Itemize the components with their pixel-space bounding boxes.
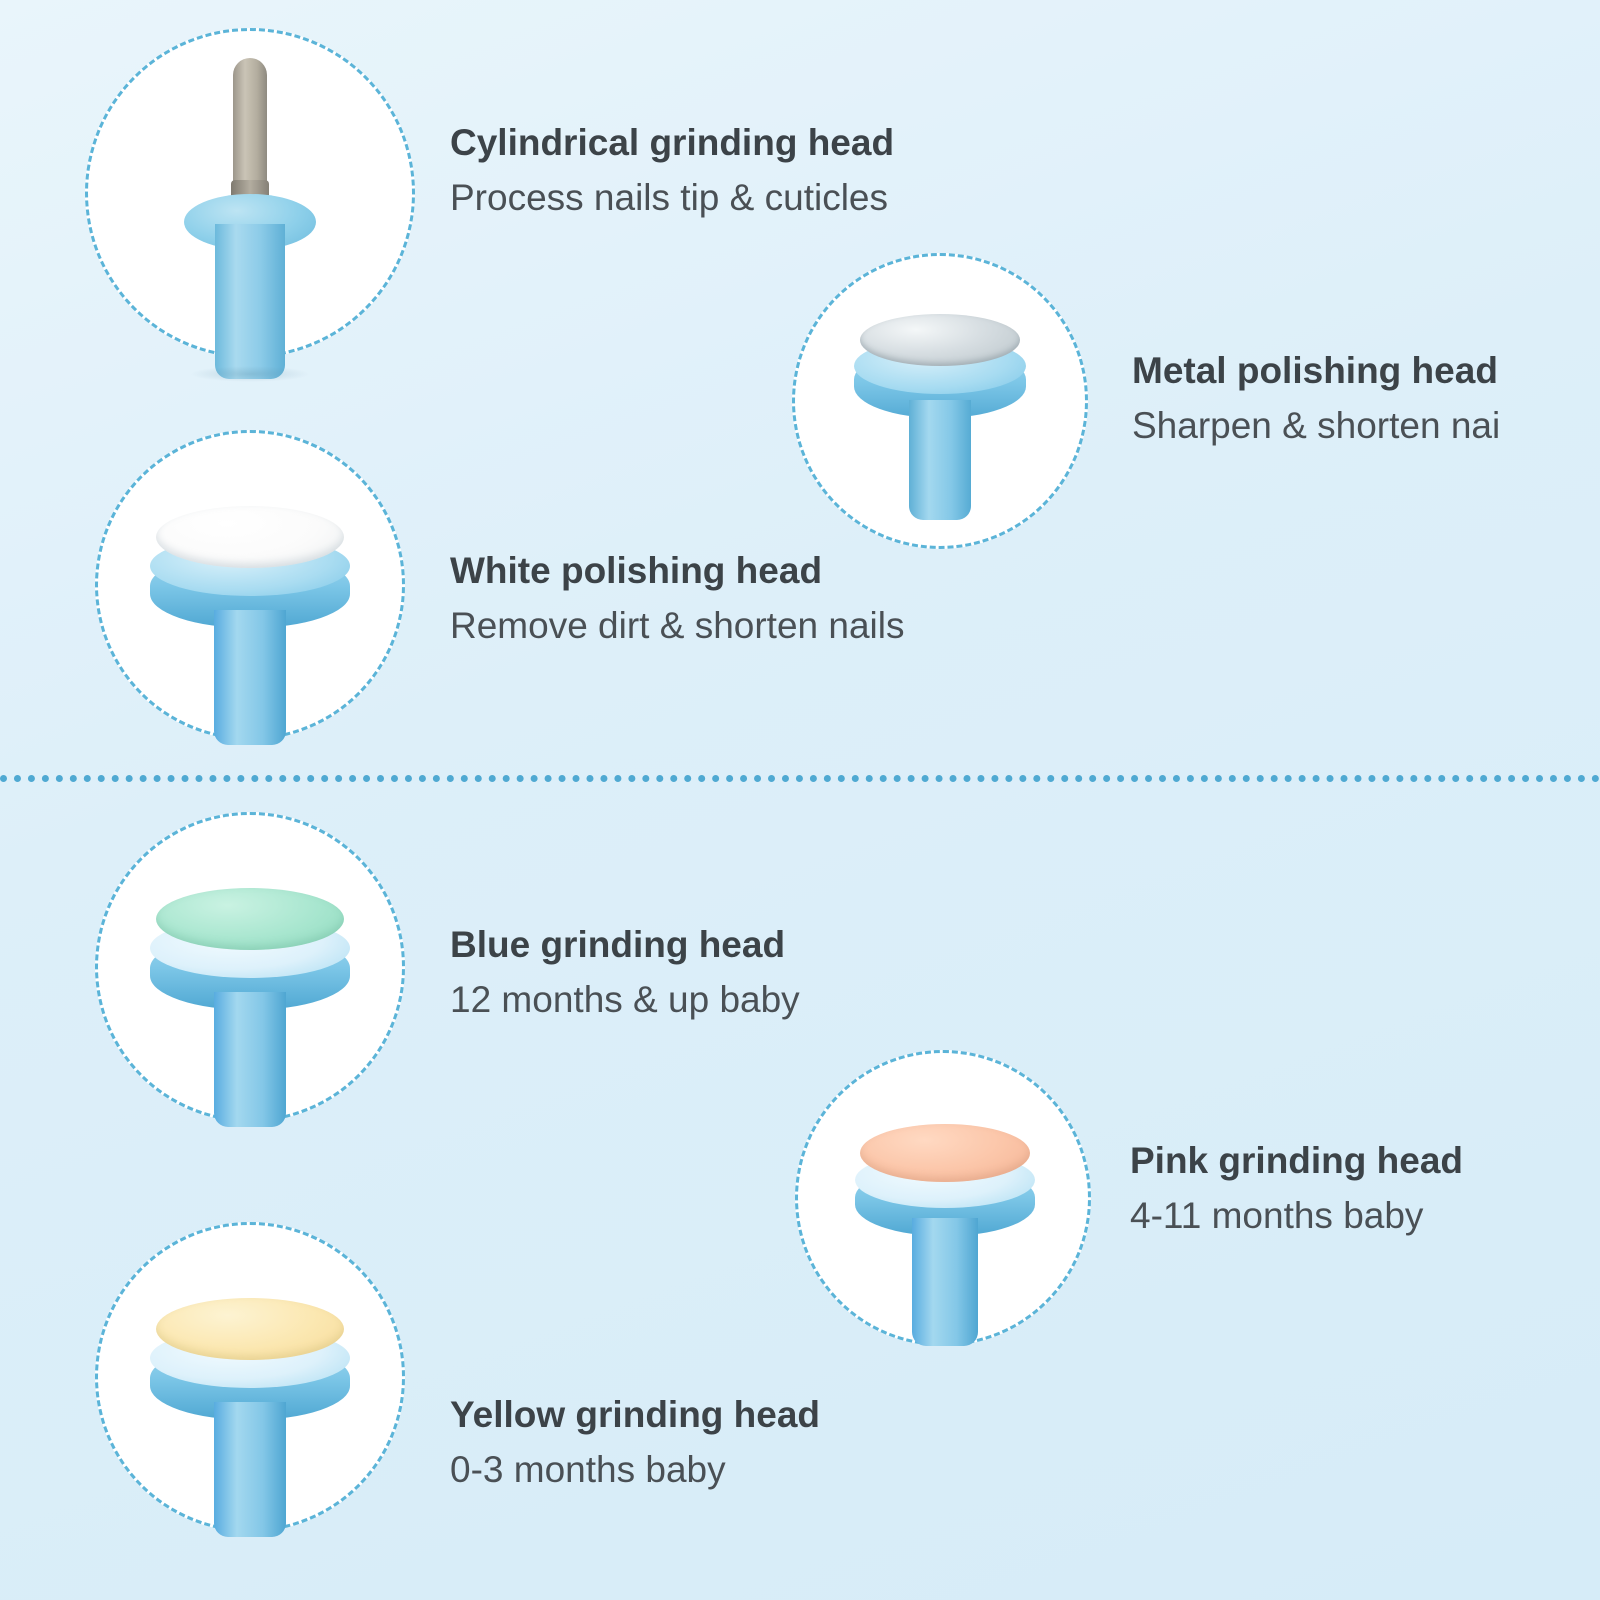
item-subtitle: 0-3 months baby [450, 1446, 820, 1494]
text-yellow-grinding-head: Yellow grinding head 0-3 months baby [450, 1392, 820, 1494]
item-subtitle: 4-11 months baby [1130, 1192, 1463, 1240]
text-blue-grinding-head: Blue grinding head 12 months & up baby [450, 922, 800, 1024]
white-pad [156, 506, 344, 568]
white-polishing-head-icon [150, 480, 350, 710]
yellow-grinding-head-icon [150, 1272, 350, 1502]
text-cylindrical-grinding-head: Cylindrical grinding head Process nails … [450, 120, 894, 222]
blue-pad [156, 888, 344, 950]
text-metal-polishing-head: Metal polishing head Sharpen & shorten n… [1132, 348, 1500, 450]
cylindrical-grinding-head-icon [180, 48, 320, 348]
item-title: Blue grinding head [450, 922, 800, 968]
metal-polishing-head-icon [855, 300, 1025, 515]
item-subtitle: Remove dirt & shorten nails [450, 602, 904, 650]
item-title: Yellow grinding head [450, 1392, 820, 1438]
item-title: White polishing head [450, 548, 904, 594]
pink-pad [860, 1124, 1030, 1182]
item-subtitle: Process nails tip & cuticles [450, 174, 894, 222]
infographic-stage: Cylindrical grinding head Process nails … [0, 0, 1600, 1600]
yellow-pad [156, 1298, 344, 1360]
item-title: Cylindrical grinding head [450, 120, 894, 166]
section-divider [0, 775, 1600, 782]
text-pink-grinding-head: Pink grinding head 4-11 months baby [1130, 1138, 1463, 1240]
item-title: Pink grinding head [1130, 1138, 1463, 1184]
item-subtitle: 12 months & up baby [450, 976, 800, 1024]
metal-pad [860, 314, 1020, 366]
text-white-polishing-head: White polishing head Remove dirt & short… [450, 548, 904, 650]
item-title: Metal polishing head [1132, 348, 1500, 394]
blue-grinding-head-icon [150, 862, 350, 1092]
item-subtitle: Sharpen & shorten nai [1132, 402, 1500, 450]
pink-grinding-head-icon [855, 1098, 1035, 1323]
